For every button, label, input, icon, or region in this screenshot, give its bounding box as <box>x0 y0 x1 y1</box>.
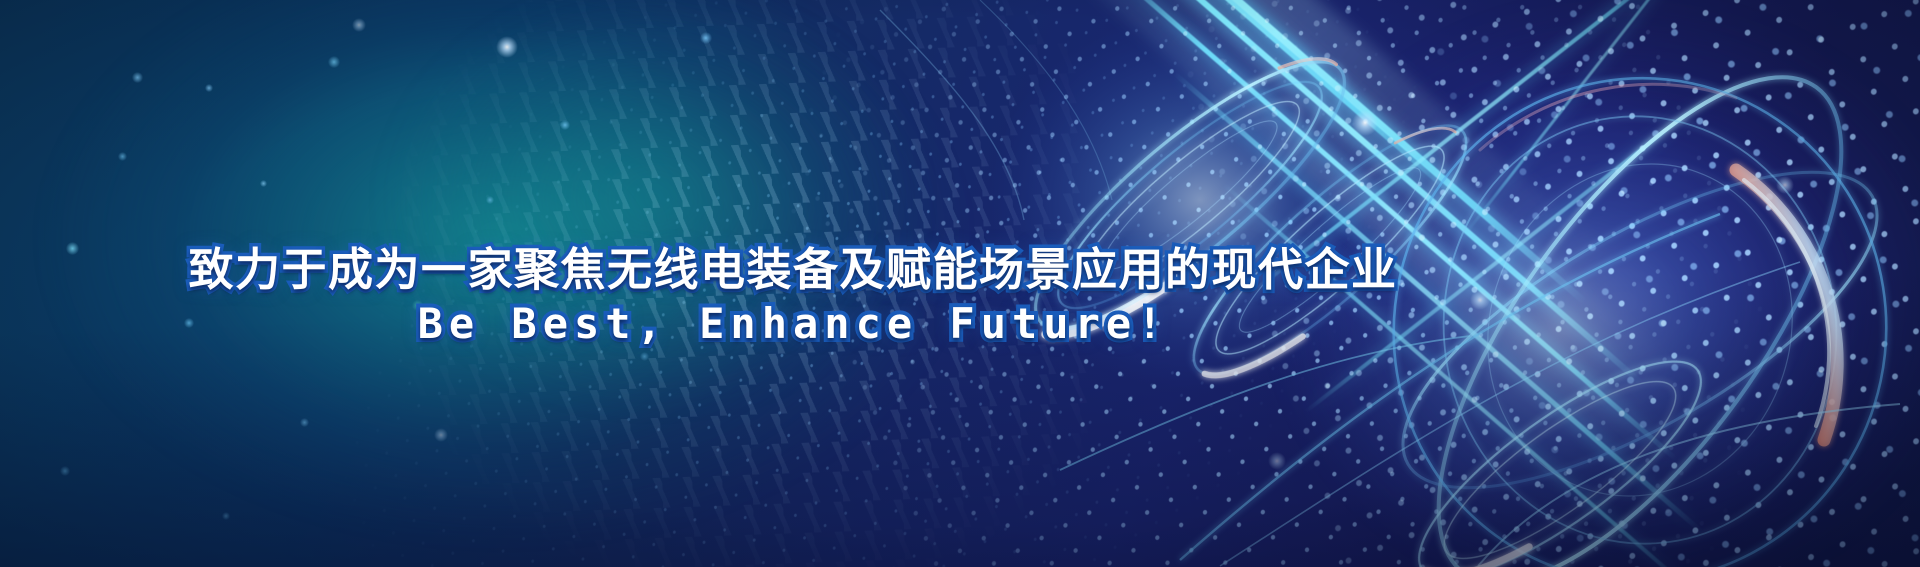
banner-copy: 致力于成为一家聚焦无线电装备及赋能场景应用的现代企业 Be Best, Enha… <box>168 246 1418 346</box>
banner-headline-chinese: 致力于成为一家聚焦无线电装备及赋能场景应用的现代企业 <box>168 246 1418 294</box>
banner-headline-english: Be Best, Enhance Future! <box>168 302 1418 347</box>
hero-banner: 致力于成为一家聚焦无线电装备及赋能场景应用的现代企业 Be Best, Enha… <box>0 0 1920 567</box>
